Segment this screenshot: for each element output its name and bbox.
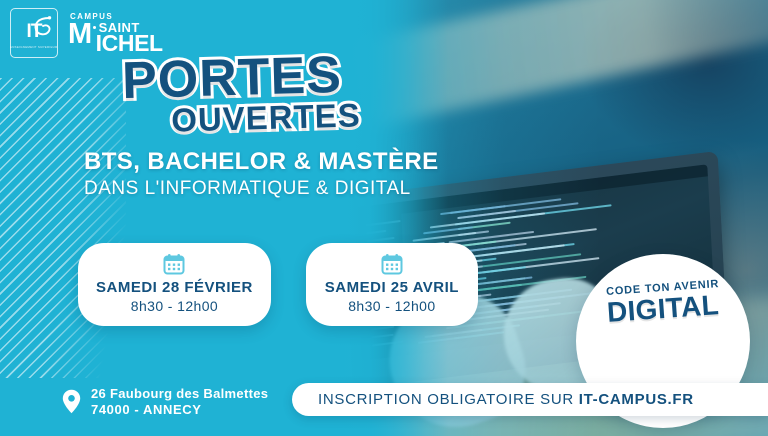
michel-m-letter: M	[68, 22, 92, 47]
address-text: 26 Faubourg des Balmettes 74000 - ANNECY	[91, 386, 268, 419]
it-logo-tagline: ENSEIGNEMENT SUPERIEUR	[10, 45, 57, 49]
logo-bar: IT ENSEIGNEMENT SUPERIEUR CAMPUS M SAINT…	[10, 8, 163, 58]
registration-cta-bar[interactable]: INSCRIPTION OBLIGATOIRE SUR IT-CAMPUS.FR	[292, 383, 768, 416]
location-pin-icon	[62, 389, 81, 414]
calendar-icon	[381, 253, 403, 275]
date-card-2-time: 8h30 - 12h00	[324, 298, 460, 314]
subtitle-block: BTS, BACHELOR & MASTÈRE DANS L'INFORMATI…	[84, 148, 439, 200]
subtitle-line-field: DANS L'INFORMATIQUE & DIGITAL	[84, 178, 439, 201]
date-card-2[interactable]: SAMEDI 25 AVRIL 8h30 - 12h00	[306, 243, 478, 326]
address-street: 26 Faubourg des Balmettes	[91, 386, 268, 402]
date-card-1-time: 8h30 - 12h00	[96, 298, 253, 314]
address-city: 74000 - ANNECY	[91, 402, 268, 418]
address-block: 26 Faubourg des Balmettes 74000 - ANNECY	[62, 386, 268, 419]
date-card-2-date: SAMEDI 25 AVRIL	[324, 279, 460, 296]
cta-prefix: INSCRIPTION OBLIGATOIRE SUR	[318, 391, 579, 408]
badge-main-line: DIGITAL	[606, 291, 720, 327]
poster-canvas: IT ENSEIGNEMENT SUPERIEUR CAMPUS M SAINT…	[0, 0, 768, 436]
headline-block: PORTES OUVERTES	[0, 52, 470, 134]
calendar-icon	[163, 253, 185, 275]
cta-text: INSCRIPTION OBLIGATOIRE SUR IT-CAMPUS.FR	[318, 391, 694, 408]
saint-michel-wordmark: M SAINT ICHEL	[68, 22, 163, 53]
swoosh-icon	[28, 14, 54, 40]
it-logo: IT ENSEIGNEMENT SUPERIEUR	[10, 8, 58, 58]
cta-domain: IT-CAMPUS.FR	[579, 391, 694, 408]
subtitle-line-programs: BTS, BACHELOR & MASTÈRE	[84, 148, 439, 176]
date-card-1[interactable]: SAMEDI 28 FÉVRIER 8h30 - 12h00	[78, 243, 271, 326]
date-cards-group: SAMEDI 28 FÉVRIER 8h30 - 12h00 SAMEDI 25…	[78, 243, 478, 326]
michel-label: ICHEL	[96, 33, 163, 53]
saint-michel-stack: SAINT ICHEL	[97, 22, 163, 53]
campus-saint-michel-logo: CAMPUS M SAINT ICHEL	[68, 13, 163, 53]
date-card-1-date: SAMEDI 28 FÉVRIER	[96, 279, 253, 296]
logo-dot-separator	[93, 26, 96, 29]
